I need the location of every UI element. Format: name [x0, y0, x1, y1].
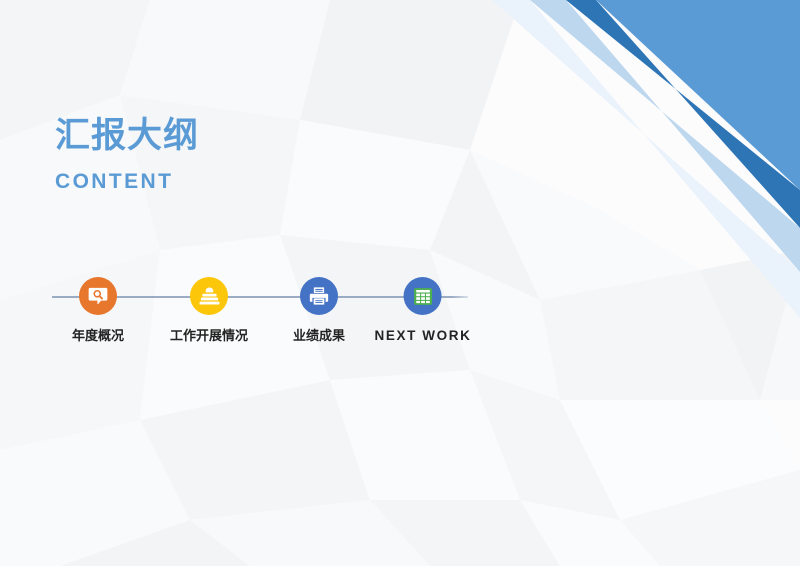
timeline-label-1: 年度概况 [72, 329, 124, 342]
presentation-slide: 汇报大纲 CONTENT 年度概况 [0, 0, 800, 566]
printer-icon [308, 285, 330, 307]
page-title-block: 汇报大纲 CONTENT [55, 116, 199, 192]
speech-bubble-search-icon [87, 285, 109, 307]
timeline-item-work-progress[interactable]: 工作开展情况 [170, 264, 248, 342]
timeline-nodes: 年度概况 工作开展情况 [52, 264, 472, 356]
timeline-icon-circle-1[interactable] [79, 277, 117, 315]
timeline-item-performance-results[interactable]: 业绩成果 [293, 264, 345, 342]
timeline-icon-circle-4[interactable] [404, 277, 442, 315]
timeline-icon-circle-3[interactable] [300, 277, 338, 315]
stacked-layers-icon [197, 285, 220, 308]
timeline-label-4: NEXT WORK [375, 329, 472, 343]
timeline-label-2: 工作开展情况 [170, 329, 248, 342]
timeline-icon-circle-2[interactable] [190, 277, 228, 315]
calendar-grid-icon [412, 285, 435, 308]
page-subtitle: CONTENT [55, 155, 199, 192]
timeline-label-3: 业绩成果 [293, 329, 345, 342]
page-title: 汇报大纲 [55, 116, 199, 155]
timeline-item-annual-overview[interactable]: 年度概况 [72, 264, 124, 342]
timeline-item-next-work[interactable]: NEXT WORK [375, 264, 472, 343]
agenda-timeline: 年度概况 工作开展情况 [52, 264, 472, 356]
